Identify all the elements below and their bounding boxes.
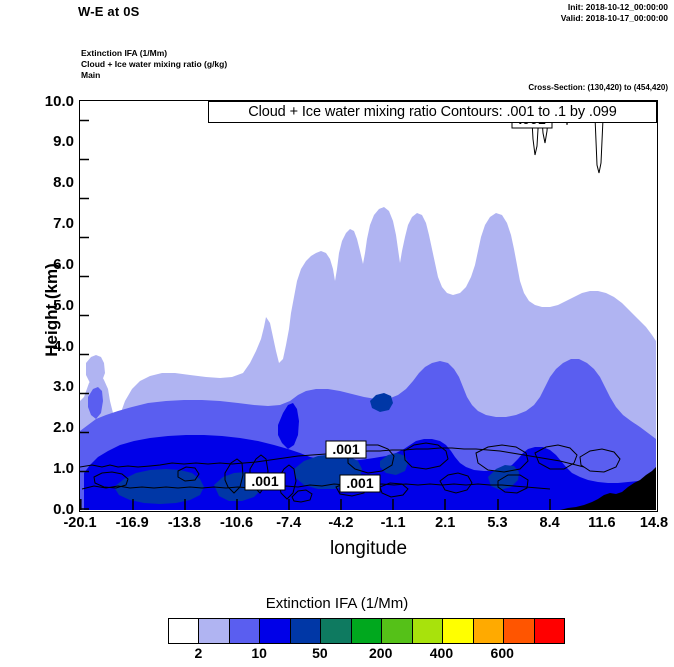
x-tick-label: 11.6 <box>572 515 632 531</box>
cross-section-label: Cross-Section: (130,420) to (454,420) <box>528 83 668 92</box>
x-tick-label: -13.8 <box>154 515 214 531</box>
x-tick-label: 2.1 <box>415 515 475 531</box>
svg-text:.001: .001 <box>346 475 373 491</box>
plot-canvas: .001 .001 .001 .001 <box>80 101 656 510</box>
variable-line-1: Extinction IFA (1/Mm) <box>81 48 227 59</box>
y-tick-label: 3.0 <box>14 378 74 395</box>
colorbar-tick-label: 2 <box>168 645 228 661</box>
colorbar-swatch <box>474 619 504 643</box>
y-tick-label: 8.0 <box>14 174 74 191</box>
y-tick-label: 10.0 <box>14 93 74 110</box>
colorbar-tick-label: 50 <box>290 645 350 661</box>
colorbar-swatch <box>169 619 199 643</box>
x-tick-label: -10.6 <box>207 515 267 531</box>
colorbar-swatch <box>199 619 229 643</box>
variable-line-2: Cloud + Ice water mixing ratio (g/kg) <box>81 59 227 70</box>
colorbar-swatch <box>382 619 412 643</box>
x-tick-label: 5.3 <box>467 515 527 531</box>
colorbar-swatch <box>443 619 473 643</box>
colorbar <box>168 618 565 644</box>
x-tick-label: -4.2 <box>311 515 371 531</box>
y-tick-label: 4.0 <box>14 338 74 355</box>
y-tick-label: 5.0 <box>14 297 74 314</box>
y-tick-label: 1.0 <box>14 460 74 477</box>
y-axis-ticks: 10.09.08.07.06.05.04.03.02.01.00.0 <box>12 100 74 512</box>
init-time: Init: 2018-10-12_00:00:00 <box>561 2 668 13</box>
x-axis-label: longitude <box>79 538 658 560</box>
x-tick-label: 8.4 <box>520 515 580 531</box>
colorbar-tick-label: 10 <box>229 645 289 661</box>
colorbar-title: Extinction IFA (1/Mm) <box>0 595 674 612</box>
y-tick-label: 9.0 <box>14 133 74 150</box>
colorbar-swatch <box>230 619 260 643</box>
colorbar-ticks: 21050200400600 <box>168 645 565 665</box>
x-axis-ticks: -20.1-16.9-13.8-10.6-7.4-4.2-1.12.15.38.… <box>79 515 658 535</box>
model-time-block: Init: 2018-10-12_00:00:00 Valid: 2018-10… <box>561 2 668 24</box>
colorbar-swatch <box>260 619 290 643</box>
colorbar-tick-label: 200 <box>351 645 411 661</box>
colorbar-swatch <box>413 619 443 643</box>
y-tick-label: 2.0 <box>14 419 74 436</box>
x-tick-label: -7.4 <box>259 515 319 531</box>
cross-section-plot: .001 .001 .001 .001 <box>79 100 658 512</box>
variable-line-3: Main <box>81 70 227 81</box>
colorbar-swatch <box>321 619 351 643</box>
colorbar-swatch <box>535 619 564 643</box>
colorbar-tick-label: 400 <box>411 645 471 661</box>
colorbar-tick-label: 600 <box>472 645 532 661</box>
colorbar-swatch <box>352 619 382 643</box>
variable-legend-block: Extinction IFA (1/Mm) Cloud + Ice water … <box>81 48 227 81</box>
x-tick-label: -20.1 <box>50 515 110 531</box>
svg-text:.001: .001 <box>251 473 278 489</box>
contour-title-box: Cloud + Ice water mixing ratio Contours:… <box>208 101 657 123</box>
x-tick-label: 14.8 <box>624 515 674 531</box>
svg-text:.001: .001 <box>332 441 359 457</box>
y-tick-label: 6.0 <box>14 256 74 273</box>
x-tick-label: -1.1 <box>363 515 423 531</box>
y-tick-label: 7.0 <box>14 215 74 232</box>
page-title: W-E at 0S <box>78 4 140 19</box>
valid-time: Valid: 2018-10-17_00:00:00 <box>561 13 668 24</box>
x-tick-label: -16.9 <box>102 515 162 531</box>
contour-title-text: Cloud + Ice water mixing ratio Contours:… <box>248 104 616 120</box>
colorbar-swatch <box>291 619 321 643</box>
colorbar-swatch <box>504 619 534 643</box>
